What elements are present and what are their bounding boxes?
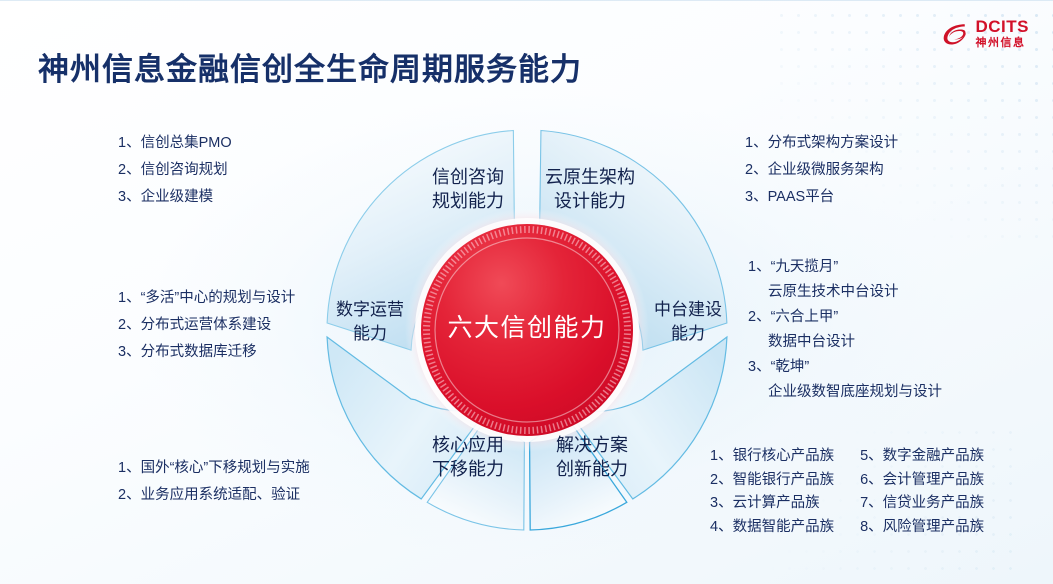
list-item-index: 2、 xyxy=(118,312,141,339)
list-item: 2、“六合上甲” xyxy=(748,305,942,330)
list-item-text: 分布式数据库迁移 xyxy=(141,344,257,360)
list-item-index: 5、 xyxy=(860,445,883,469)
segment-label-consulting: 信创咨询 规划能力 xyxy=(403,165,533,213)
segment-label-digital-ops: 数字运营 能力 xyxy=(311,298,429,346)
list-item-text: 数字金融产品族 xyxy=(883,448,985,464)
list-item-index: 2、 xyxy=(118,157,141,184)
list-item-index: 3、 xyxy=(118,184,141,211)
list-item-text: 分布式架构方案设计 xyxy=(768,135,899,151)
list-item: 7、信贷业务产品族 xyxy=(860,492,984,516)
list-item: 1、分布式架构方案设计 xyxy=(745,130,898,157)
segment-label-cloud-native: 云原生架构 设计能力 xyxy=(525,165,655,213)
slide-canvas: 神州信息金融信创全生命周期服务能力 DCITS 神州信息 1、信创总集PMO 2… xyxy=(0,0,1053,584)
list-item: 1、信创总集PMO xyxy=(118,130,232,157)
logo-wordmark: DCITS 神州信息 xyxy=(976,18,1030,49)
list-item: 3、PAAS平台 xyxy=(745,184,898,211)
list-item: 3、分布式数据库迁移 xyxy=(118,339,295,366)
list-item: 1、“九天揽月” xyxy=(748,255,942,280)
list-item-index: 3、 xyxy=(118,339,141,366)
segment-label-core-app: 核心应用 下移能力 xyxy=(401,433,535,481)
logo-cn-text: 神州信息 xyxy=(976,38,1030,49)
list-item-subtext: 数据中台设计 xyxy=(748,330,942,355)
list-item: 2、分布式运营体系建设 xyxy=(118,312,295,339)
list-bottom-left: 1、国外“核心”下移规划与实施 2、业务应用系统适配、验证 xyxy=(118,455,310,509)
list-middle-left: 1、“多活”中心的规划与设计 2、分布式运营体系建设 3、分布式数据库迁移 xyxy=(118,285,295,366)
list-item-text: 信贷业务产品族 xyxy=(883,495,985,511)
list-item-index: 7、 xyxy=(860,492,883,516)
list-item-text: 分布式运营体系建设 xyxy=(141,317,272,333)
list-item-subtext: 云原生技术中台设计 xyxy=(748,280,942,305)
list-item: 1、国外“核心”下移规划与实施 xyxy=(118,455,310,482)
list-item-text: 国外“核心”下移规划与实施 xyxy=(141,460,310,476)
list-item-text: PAAS平台 xyxy=(768,189,835,205)
list-item: 1、“多活”中心的规划与设计 xyxy=(118,285,295,312)
list-item-text: 风险管理产品族 xyxy=(883,519,985,535)
dcits-swirl-icon xyxy=(940,19,970,49)
list-item: 2、业务应用系统适配、验证 xyxy=(118,482,310,509)
brand-logo: DCITS 神州信息 xyxy=(940,18,1030,49)
list-column-2: 5、数字金融产品族 6、会计管理产品族 7、信贷业务产品族 8、风险管理产品族 xyxy=(860,445,984,539)
list-item-text: “乾坤” xyxy=(771,359,810,375)
list-item-text: 信创咨询规划 xyxy=(141,162,228,178)
list-item-text: 企业级微服务架构 xyxy=(768,162,884,178)
list-middle-right: 1、“九天揽月” 云原生技术中台设计 2、“六合上甲” 数据中台设计 3、“乾坤… xyxy=(748,255,942,405)
list-item-text: “六合上甲” xyxy=(771,309,839,325)
list-item: 3、“乾坤” xyxy=(748,355,942,380)
list-item: 5、数字金融产品族 xyxy=(860,445,984,469)
list-item-text: 企业级建模 xyxy=(141,189,214,205)
capability-donut-diagram: 六大信创能力 信创咨询 规划能力 云原生架构 设计能力 数字运营 能力 中台建设… xyxy=(297,120,757,540)
list-item-text: 信创总集PMO xyxy=(141,135,232,151)
top-hairline xyxy=(0,0,1053,1)
list-item-text: 业务应用系统适配、验证 xyxy=(141,487,301,503)
page-title: 神州信息金融信创全生命周期服务能力 xyxy=(38,44,582,89)
list-top-left: 1、信创总集PMO 2、信创咨询规划 3、企业级建模 xyxy=(118,130,232,211)
list-item: 3、企业级建模 xyxy=(118,184,232,211)
list-item-subtext: 企业级数智底座规划与设计 xyxy=(748,380,942,405)
list-item-text: “九天揽月” xyxy=(771,259,839,275)
list-item-index: 2、 xyxy=(118,482,141,509)
list-item-index: 1、 xyxy=(118,285,141,312)
list-item-text: “多活”中心的规划与设计 xyxy=(141,290,296,306)
segment-label-solution: 解决方案 创新能力 xyxy=(525,433,659,481)
list-item-text: 会计管理产品族 xyxy=(883,472,985,488)
list-top-right: 1、分布式架构方案设计 2、企业级微服务架构 3、PAAS平台 xyxy=(745,130,898,211)
list-item: 2、企业级微服务架构 xyxy=(745,157,898,184)
list-item-index: 1、 xyxy=(118,130,141,157)
list-item-index: 8、 xyxy=(860,516,883,540)
list-item-index: 1、 xyxy=(118,455,141,482)
segment-label-midplatform: 中台建设 能力 xyxy=(629,298,747,346)
list-item-index: 6、 xyxy=(860,469,883,493)
list-item: 6、会计管理产品族 xyxy=(860,469,984,493)
list-item: 2、信创咨询规划 xyxy=(118,157,232,184)
list-item: 8、风险管理产品族 xyxy=(860,516,984,540)
logo-en-text: DCITS xyxy=(976,18,1030,35)
